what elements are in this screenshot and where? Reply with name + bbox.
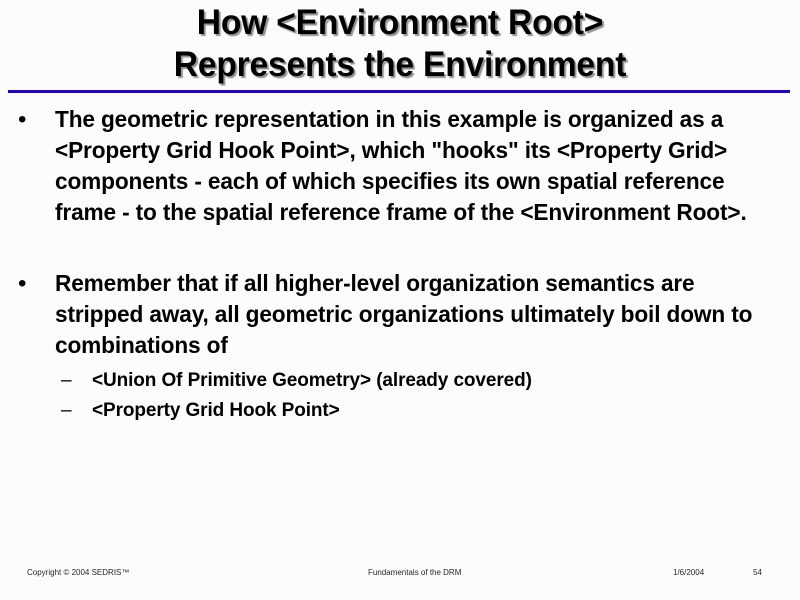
- bullet-item: • Remember that if all higher-level orga…: [0, 268, 800, 424]
- slide-body: • The geometric representation in this e…: [0, 104, 800, 427]
- bullet-text: Remember that if all higher-level organi…: [55, 268, 759, 361]
- slide-title: How <Environment Root> Represents the En…: [0, 2, 800, 86]
- bullet-text: The geometric representation in this exa…: [55, 104, 759, 228]
- bullet-item: • The geometric representation in this e…: [0, 104, 800, 228]
- presentation-slide: How <Environment Root> Represents the En…: [0, 0, 800, 600]
- sub-bullet-text: <Union Of Primitive Geometry> (already c…: [92, 367, 770, 394]
- footer-date: 1/6/2004: [673, 568, 704, 577]
- sub-bullet-text: <Property Grid Hook Point>: [92, 397, 770, 424]
- bullet-marker-icon: •: [18, 268, 26, 299]
- slide-title-line-1: How <Environment Root>: [16, 2, 784, 44]
- footer-page-number: 54: [753, 568, 762, 577]
- sub-bullet-item: – <Union Of Primitive Geometry> (already…: [55, 367, 770, 394]
- dash-marker-icon: –: [61, 397, 72, 424]
- sub-bullet-list: – <Union Of Primitive Geometry> (already…: [55, 367, 770, 424]
- dash-marker-icon: –: [61, 367, 72, 394]
- title-divider-rule: [8, 90, 790, 93]
- footer-deck-title: Fundamentals of the DRM: [368, 568, 461, 577]
- sub-bullet-item: – <Property Grid Hook Point>: [55, 397, 770, 424]
- slide-footer: Copyright © 2004 SEDRIS™ Fundamentals of…: [0, 568, 800, 588]
- slide-title-line-2: Represents the Environment: [16, 44, 784, 86]
- footer-copyright: Copyright © 2004 SEDRIS™: [27, 568, 129, 577]
- bullet-marker-icon: •: [18, 104, 26, 135]
